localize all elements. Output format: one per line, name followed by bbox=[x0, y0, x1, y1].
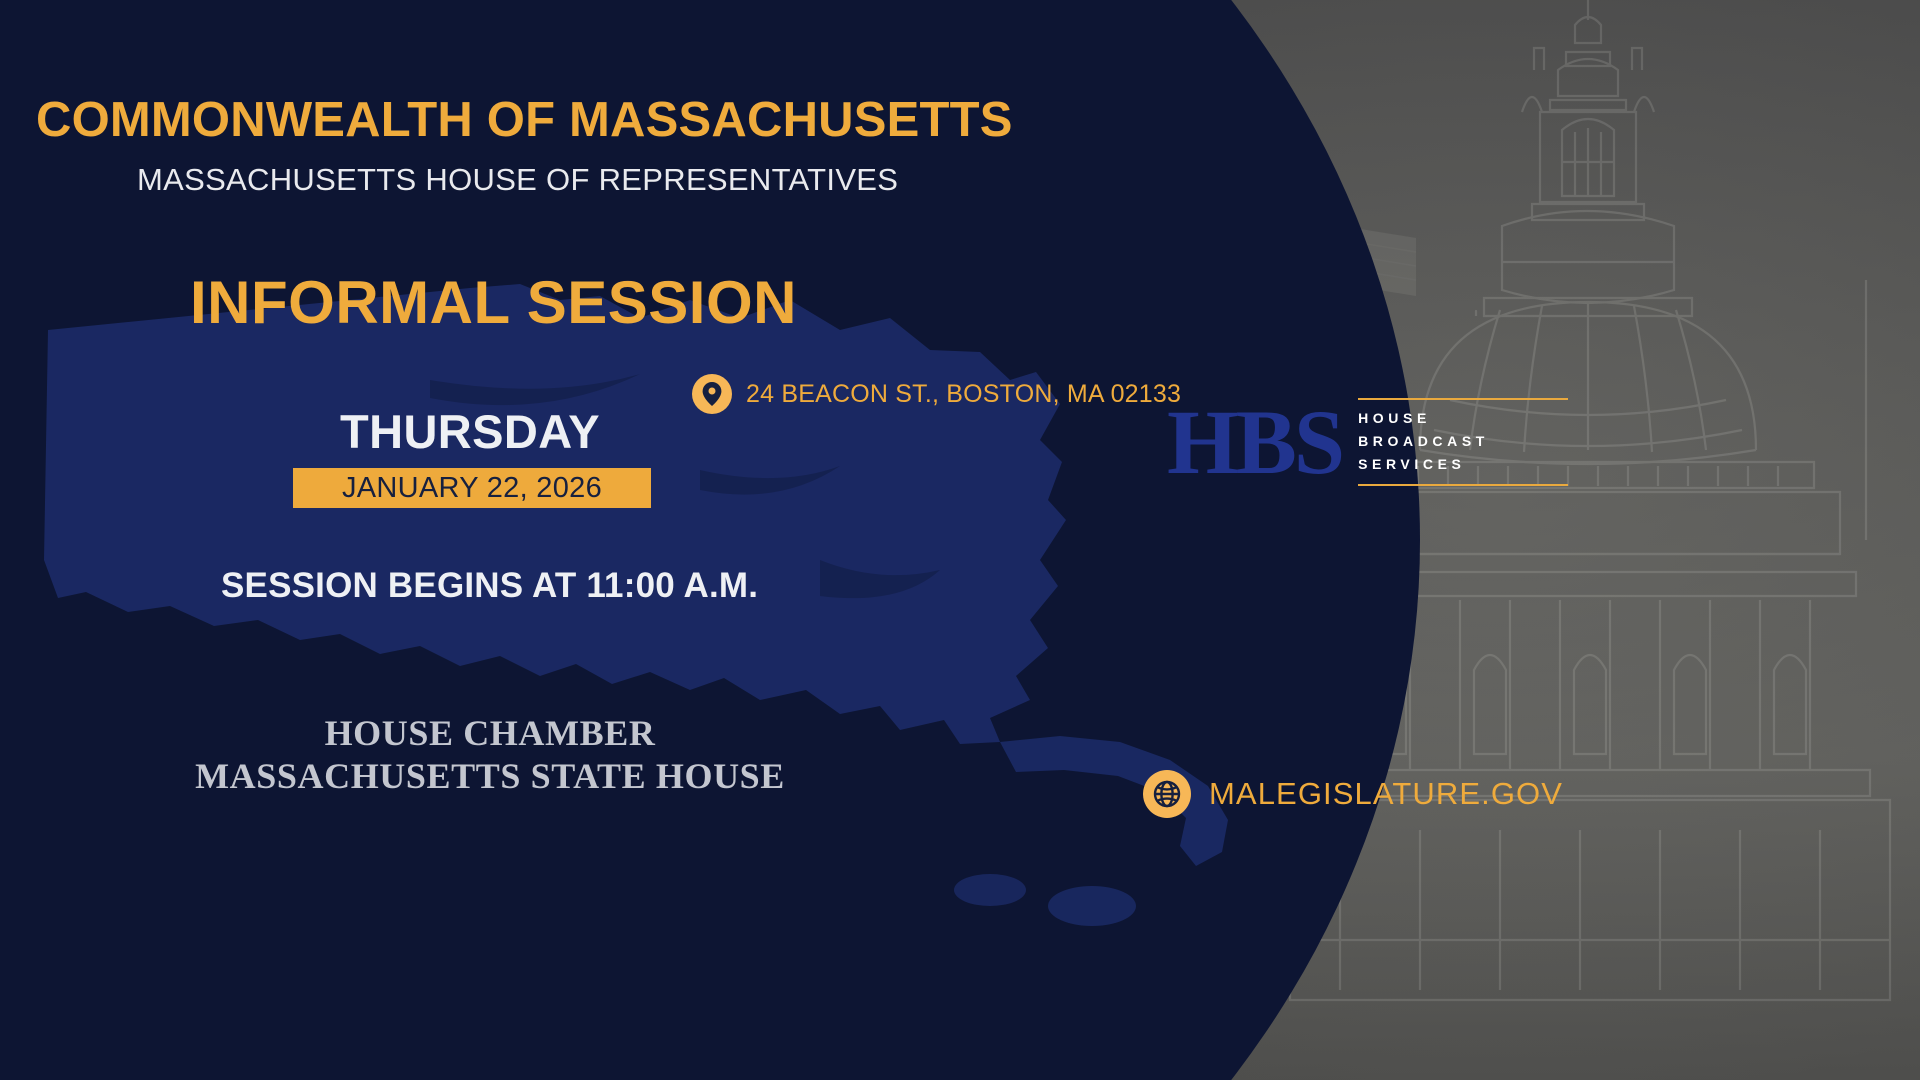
venue-line-2: MASSACHUSETTS STATE HOUSE bbox=[0, 755, 980, 798]
address-text: 24 BEACON ST., BOSTON, MA 02133 bbox=[746, 380, 1181, 409]
hbs-word-services: SERVICES bbox=[1358, 453, 1568, 476]
slide-content: COMMONWEALTH OF MASSACHUSETTS MASSACHUSE… bbox=[0, 0, 1920, 1080]
hbs-word-broadcast: BROADCAST bbox=[1358, 430, 1568, 453]
session-date: JANUARY 22, 2026 bbox=[342, 472, 602, 505]
session-start-time: SESSION BEGINS AT 11:00 A.M. bbox=[221, 566, 758, 606]
session-type-heading: INFORMAL SESSION bbox=[190, 268, 797, 337]
hbs-logo: HBS HOUSE BROADCAST SERVICES bbox=[1167, 396, 1568, 488]
page-subtitle: MASSACHUSETTS HOUSE OF REPRESENTATIVES bbox=[137, 162, 898, 198]
globe-icon bbox=[1143, 770, 1191, 818]
hbs-monogram: HBS bbox=[1167, 396, 1342, 488]
venue-line-1: HOUSE CHAMBER bbox=[0, 712, 980, 755]
session-day: THURSDAY bbox=[340, 404, 600, 459]
website-row: MALEGISLATURE.GOV bbox=[1143, 770, 1563, 818]
map-pin-icon bbox=[692, 374, 732, 414]
session-announcement-slide: COMMONWEALTH OF MASSACHUSETTS MASSACHUSE… bbox=[0, 0, 1920, 1080]
page-title: COMMONWEALTH OF MASSACHUSETTS bbox=[36, 92, 1013, 148]
venue-block: HOUSE CHAMBER MASSACHUSETTS STATE HOUSE bbox=[0, 712, 980, 798]
hbs-wordmark: HOUSE BROADCAST SERVICES bbox=[1358, 398, 1568, 485]
status-badge: JANUARY 22, 2026 bbox=[293, 468, 651, 508]
website-url: MALEGISLATURE.GOV bbox=[1209, 776, 1563, 812]
address-row: 24 BEACON ST., BOSTON, MA 02133 bbox=[692, 374, 1181, 414]
hbs-word-house: HOUSE bbox=[1358, 407, 1568, 430]
